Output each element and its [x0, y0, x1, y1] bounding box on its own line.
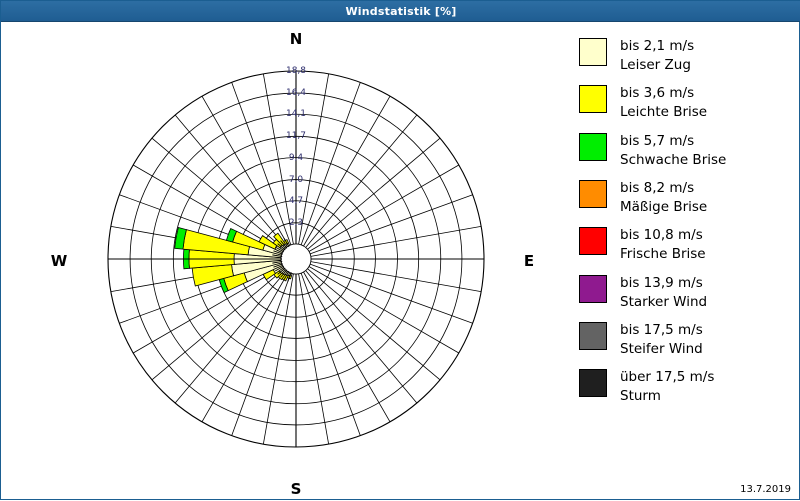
- radial-tick-label: 4,7: [276, 196, 316, 206]
- legend-beaufort-name: Mäßige Brise: [620, 198, 707, 217]
- window-title: Windstatistik [%]: [345, 5, 456, 18]
- windrose-window: Windstatistik [%] N E S W 2,34,77,09,411…: [0, 0, 800, 500]
- legend-beaufort-name: Leichte Brise: [620, 103, 707, 122]
- legend-item-label: bis 5,7 m/sSchwache Brise: [620, 132, 726, 170]
- compass-label-west: W: [39, 252, 79, 270]
- radial-tick-label: 16,4: [276, 88, 316, 98]
- legend-speed-range: bis 13,9 m/s: [620, 274, 707, 293]
- rose-center-hub: [281, 244, 311, 274]
- legend-item-label: über 17,5 m/sSturm: [620, 368, 714, 406]
- legend-item-label: bis 13,9 m/sStarker Wind: [620, 274, 707, 312]
- legend-beaufort-name: Leiser Zug: [620, 56, 694, 75]
- legend-speed-range: bis 8,2 m/s: [620, 179, 707, 198]
- legend: bis 2,1 m/sLeiser Zugbis 3,6 m/sLeichte …: [579, 37, 797, 416]
- legend-color-swatch: [579, 180, 607, 208]
- compass-label-south: S: [276, 480, 316, 498]
- wind-petals: [175, 227, 292, 292]
- legend-item[interactable]: bis 13,9 m/sStarker Wind: [579, 274, 797, 312]
- legend-speed-range: bis 17,5 m/s: [620, 321, 703, 340]
- compass-label-north: N: [276, 30, 316, 48]
- legend-item[interactable]: bis 3,6 m/sLeichte Brise: [579, 84, 797, 122]
- legend-speed-range: über 17,5 m/s: [620, 368, 714, 387]
- radial-tick-label: 7,0: [276, 175, 316, 185]
- legend-beaufort-name: Sturm: [620, 387, 714, 406]
- radial-tick-label: 2,3: [276, 218, 316, 228]
- legend-beaufort-name: Schwache Brise: [620, 151, 726, 170]
- legend-item[interactable]: bis 2,1 m/sLeiser Zug: [579, 37, 797, 75]
- legend-item-label: bis 10,8 m/sFrische Brise: [620, 226, 706, 264]
- legend-color-swatch: [579, 369, 607, 397]
- compass-label-east: E: [509, 252, 549, 270]
- legend-item[interactable]: bis 8,2 m/sMäßige Brise: [579, 179, 797, 217]
- legend-item[interactable]: bis 5,7 m/sSchwache Brise: [579, 132, 797, 170]
- legend-item[interactable]: über 17,5 m/sSturm: [579, 368, 797, 406]
- window-title-bar: Windstatistik [%]: [1, 1, 800, 22]
- legend-color-swatch: [579, 133, 607, 161]
- legend-item-label: bis 3,6 m/sLeichte Brise: [620, 84, 707, 122]
- legend-item-label: bis 17,5 m/sSteifer Wind: [620, 321, 703, 359]
- legend-item-label: bis 8,2 m/sMäßige Brise: [620, 179, 707, 217]
- legend-beaufort-name: Steifer Wind: [620, 340, 703, 359]
- date-stamp: 13.7.2019: [740, 484, 791, 495]
- radial-tick-label: 18,8: [276, 66, 316, 76]
- legend-color-swatch: [579, 227, 607, 255]
- radial-tick-label: 11,7: [276, 131, 316, 141]
- windrose-plot-area: N E S W 2,34,77,09,411,714,116,418,8: [1, 22, 561, 501]
- legend-beaufort-name: Frische Brise: [620, 245, 706, 264]
- legend-color-swatch: [579, 322, 607, 350]
- legend-speed-range: bis 3,6 m/s: [620, 84, 707, 103]
- legend-speed-range: bis 10,8 m/s: [620, 226, 706, 245]
- legend-color-swatch: [579, 85, 607, 113]
- radial-tick-label: 14,1: [276, 109, 316, 119]
- legend-color-swatch: [579, 38, 607, 66]
- legend-item[interactable]: bis 17,5 m/sSteifer Wind: [579, 321, 797, 359]
- legend-speed-range: bis 5,7 m/s: [620, 132, 726, 151]
- legend-speed-range: bis 2,1 m/s: [620, 37, 694, 56]
- legend-item-label: bis 2,1 m/sLeiser Zug: [620, 37, 694, 75]
- radial-tick-label: 9,4: [276, 153, 316, 163]
- legend-color-swatch: [579, 275, 607, 303]
- legend-item[interactable]: bis 10,8 m/sFrische Brise: [579, 226, 797, 264]
- legend-beaufort-name: Starker Wind: [620, 293, 707, 312]
